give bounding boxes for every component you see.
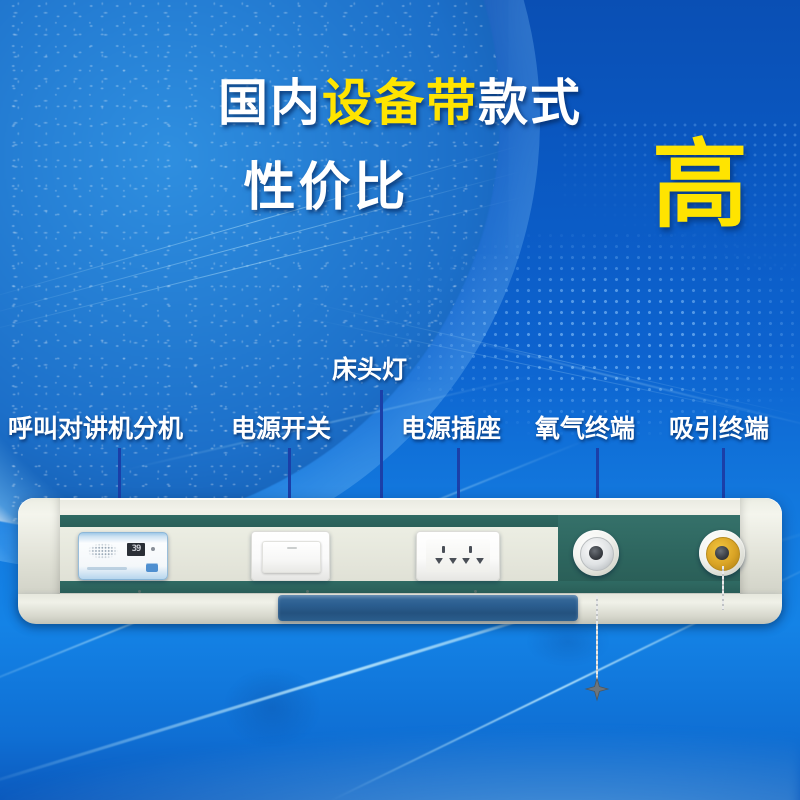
pull-cord-handle[interactable] [584, 676, 610, 702]
oxygen-terminal-port-icon [589, 546, 603, 560]
suction-terminal-port-icon [715, 546, 729, 560]
socket-pin-icon [462, 558, 470, 564]
power-switch-rocker[interactable] [262, 541, 321, 573]
power-socket-plate[interactable] [416, 531, 500, 581]
callout-label-suction-terminal: 吸引终端 [669, 417, 769, 442]
panel-screw [474, 590, 477, 593]
callout-label-group: 呼叫对讲机分机 电源开关 床头灯 电源插座 氧气终端 吸引终端 [0, 0, 800, 800]
product-poster: 国内设备带款式 性价比 高 呼叫对讲机分机 电源开关 床头灯 电源插座 氧气终端… [0, 0, 800, 800]
socket-pin-icon [469, 546, 472, 553]
intercom-display: 39 [127, 543, 145, 556]
nurse-call-intercom-unit[interactable]: 39 [78, 532, 168, 580]
switch-mark-icon [287, 547, 297, 549]
socket-pin-icon [449, 558, 457, 564]
panel-screw [138, 590, 141, 593]
callout-label-oxygen-terminal: 氧气终端 [535, 417, 635, 442]
socket-pin-icon [442, 546, 445, 553]
socket-pin-icon [435, 558, 443, 564]
intercom-call-button[interactable] [146, 563, 158, 572]
power-switch-plate[interactable] [251, 531, 330, 581]
indicator-led-icon [151, 547, 155, 551]
callout-label-power-socket: 电源插座 [401, 417, 501, 442]
socket-pin-icon [476, 558, 484, 564]
panel-screw [306, 590, 309, 593]
intercom-vent-slot [87, 567, 127, 570]
speaker-grille-icon [88, 543, 118, 559]
pull-cord[interactable] [596, 596, 598, 682]
oxygen-terminal-outlet[interactable] [573, 530, 619, 576]
callout-label-power-switch: 电源开关 [231, 417, 331, 442]
callout-label-bedhead-light: 床头灯 [332, 358, 407, 383]
panel-stripe-bottom [58, 581, 742, 593]
suction-terminal-cord [722, 566, 724, 610]
callout-label-nurse-call-intercom: 呼叫对讲机分机 [8, 417, 183, 442]
bedhead-light-bar[interactable] [278, 595, 578, 621]
power-socket-face [426, 539, 490, 572]
